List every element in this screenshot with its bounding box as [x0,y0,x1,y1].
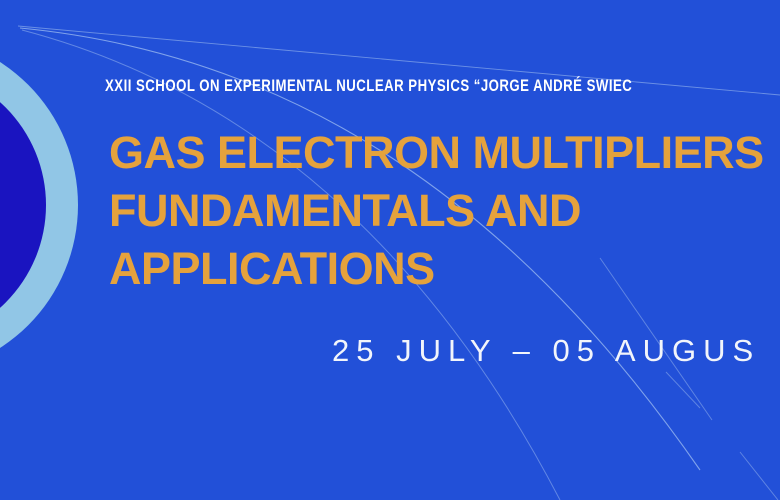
event-title: GAS ELECTRON MULTIPLIERS FUNDAMENTALS AN… [109,124,764,298]
title-line-2: FUNDAMENTALS AND [109,182,764,240]
event-subtitle: XXII SCHOOL ON EXPERIMENTAL NUCLEAR PHYS… [105,76,632,96]
event-date-range: 25 JULY – 05 AUGUS [332,331,760,371]
title-line-1: GAS ELECTRON MULTIPLIERS [109,124,764,182]
title-line-3: APPLICATIONS [109,240,764,298]
conference-banner: XXII SCHOOL ON EXPERIMENTAL NUCLEAR PHYS… [0,0,780,500]
